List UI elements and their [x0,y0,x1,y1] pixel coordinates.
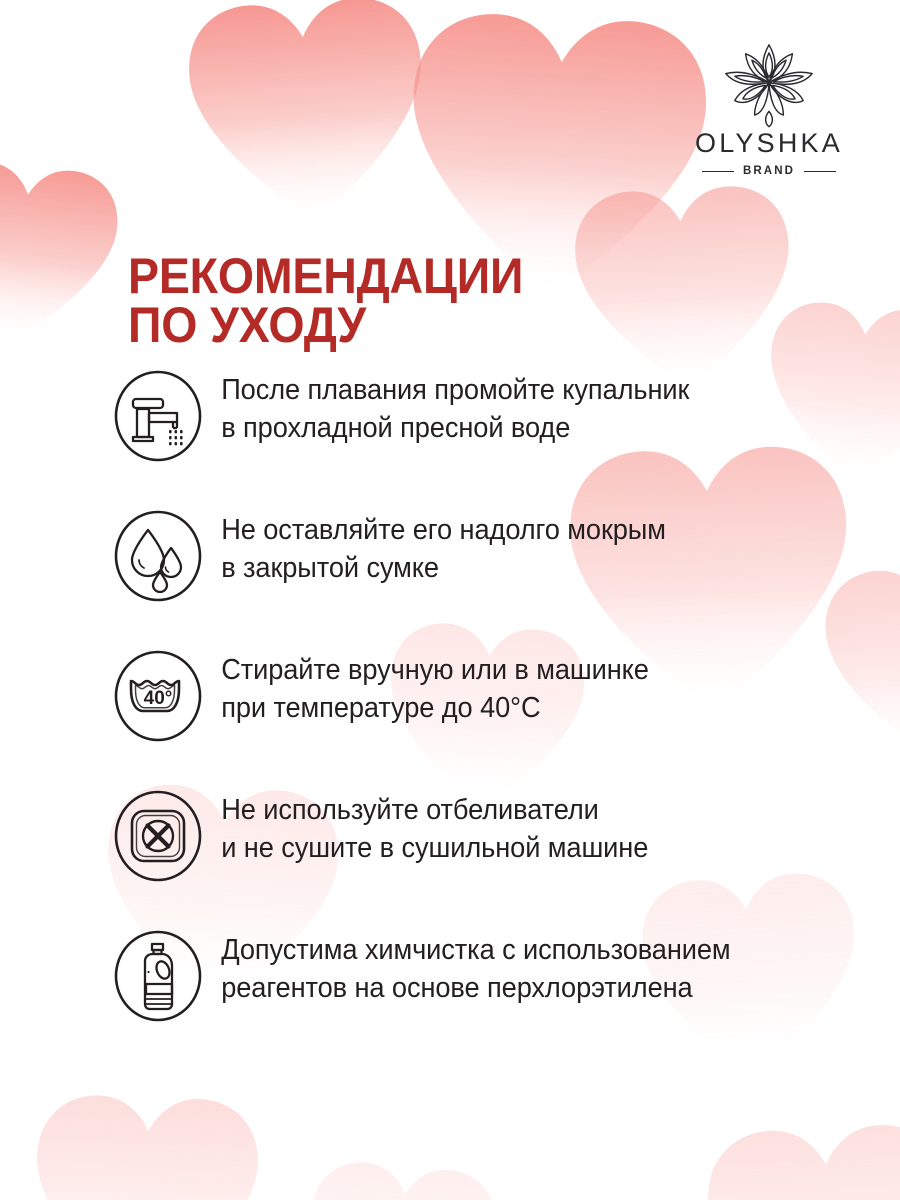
faucet-icon [112,368,204,464]
tip-text: Не оставляйте его надолго мокрым в закры… [204,508,842,588]
heart-shape [694,1113,900,1200]
care-instructions-page: OLYSHKA BRAND РЕКОМЕНДАЦИИ ПО УХОДУ [0,0,900,1200]
water-drops-icon [112,508,204,604]
brand-sub-label: BRAND [743,166,795,178]
brand-logo: OLYSHKA BRAND [674,34,864,178]
care-tips-list: После плавания промойте купальник в прох… [112,368,872,1068]
list-item: Допустима химчистка с использованием реа… [112,928,872,1068]
tip-text: Стирайте вручную или в машинке при темпе… [204,648,842,728]
tip-text: После плавания промойте купальник в прох… [204,368,842,448]
heart-shape [174,0,442,235]
brand-wordmark: OLYSHKA [674,130,864,157]
tip-text: Допустима химчистка с использованием реа… [204,928,842,1008]
logo-rule-right [804,171,836,172]
heart-shape [563,176,806,400]
heart-shape [292,1152,507,1200]
heart-shape [0,150,131,355]
detergent-bottle-icon [112,928,204,1024]
wash-temperature-label: 40° [144,688,173,709]
no-tumble-dry-icon [112,788,204,884]
brand-sub-row: BRAND [674,166,864,178]
list-item: Не оставляйте его надолго мокрым в закры… [112,508,872,648]
list-item: 40° Стирайте вручную или в машинке при т… [112,648,872,788]
logo-rule-left [702,171,734,172]
lotus-flower-icon [715,34,823,126]
list-item: После плавания промойте купальник в прох… [112,368,872,508]
list-item: Не используйте отбеливатели и не сушите … [112,788,872,928]
tip-text: Не используйте отбеливатели и не сушите … [204,788,842,868]
heart-shape [22,1086,270,1200]
page-title: РЕКОМЕНДАЦИИ ПО УХОДУ [128,252,523,350]
wash-tub-40-icon: 40° [112,648,204,744]
